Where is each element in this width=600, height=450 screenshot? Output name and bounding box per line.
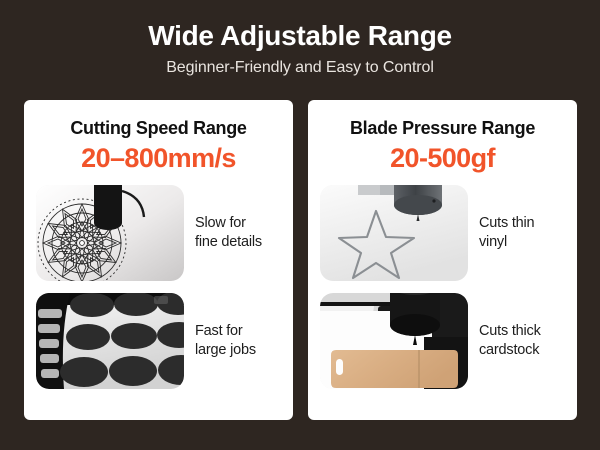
card-rows: Slow for fine details <box>36 185 281 389</box>
label-line-2: large jobs <box>195 341 256 360</box>
list-item: Cuts thick cardstock <box>320 293 565 389</box>
label-line-1: Cuts thin <box>479 214 534 233</box>
header: Wide Adjustable Range Beginner-Friendly … <box>0 0 600 79</box>
mandala-cut-photo <box>36 185 184 281</box>
list-item: Cuts thin vinyl <box>320 185 565 281</box>
cardstock-cut-photo <box>320 293 468 389</box>
label-line-2: fine details <box>195 233 262 252</box>
card-cutting-speed: Cutting Speed Range 20–800mm/s <box>24 100 293 420</box>
card-value: 20–800mm/s <box>36 142 281 174</box>
card-blade-pressure: Blade Pressure Range 20-500gf <box>308 100 577 420</box>
card-title: Cutting Speed Range <box>36 117 281 139</box>
star-vinyl-cut-photo <box>320 185 468 281</box>
label-line-1: Cuts thick <box>479 322 541 341</box>
label-line-1: Fast for <box>195 322 256 341</box>
circles-cut-photo <box>36 293 184 389</box>
card-rows: Cuts thin vinyl <box>320 185 565 389</box>
list-item-label: Fast for large jobs <box>195 322 256 360</box>
list-item: Slow for fine details <box>36 185 281 281</box>
card-value: 20-500gf <box>320 142 565 174</box>
label-line-2: vinyl <box>479 233 534 252</box>
list-item: Fast for large jobs <box>36 293 281 389</box>
list-item-label: Slow for fine details <box>195 214 262 252</box>
page-title: Wide Adjustable Range <box>0 19 600 53</box>
label-line-2: cardstock <box>479 341 541 360</box>
card-title: Blade Pressure Range <box>320 117 565 139</box>
list-item-label: Cuts thick cardstock <box>479 322 541 360</box>
list-item-label: Cuts thin vinyl <box>479 214 534 252</box>
page-subtitle: Beginner-Friendly and Easy to Control <box>0 57 600 79</box>
label-line-1: Slow for <box>195 214 262 233</box>
feature-cards: Cutting Speed Range 20–800mm/s <box>24 100 577 420</box>
